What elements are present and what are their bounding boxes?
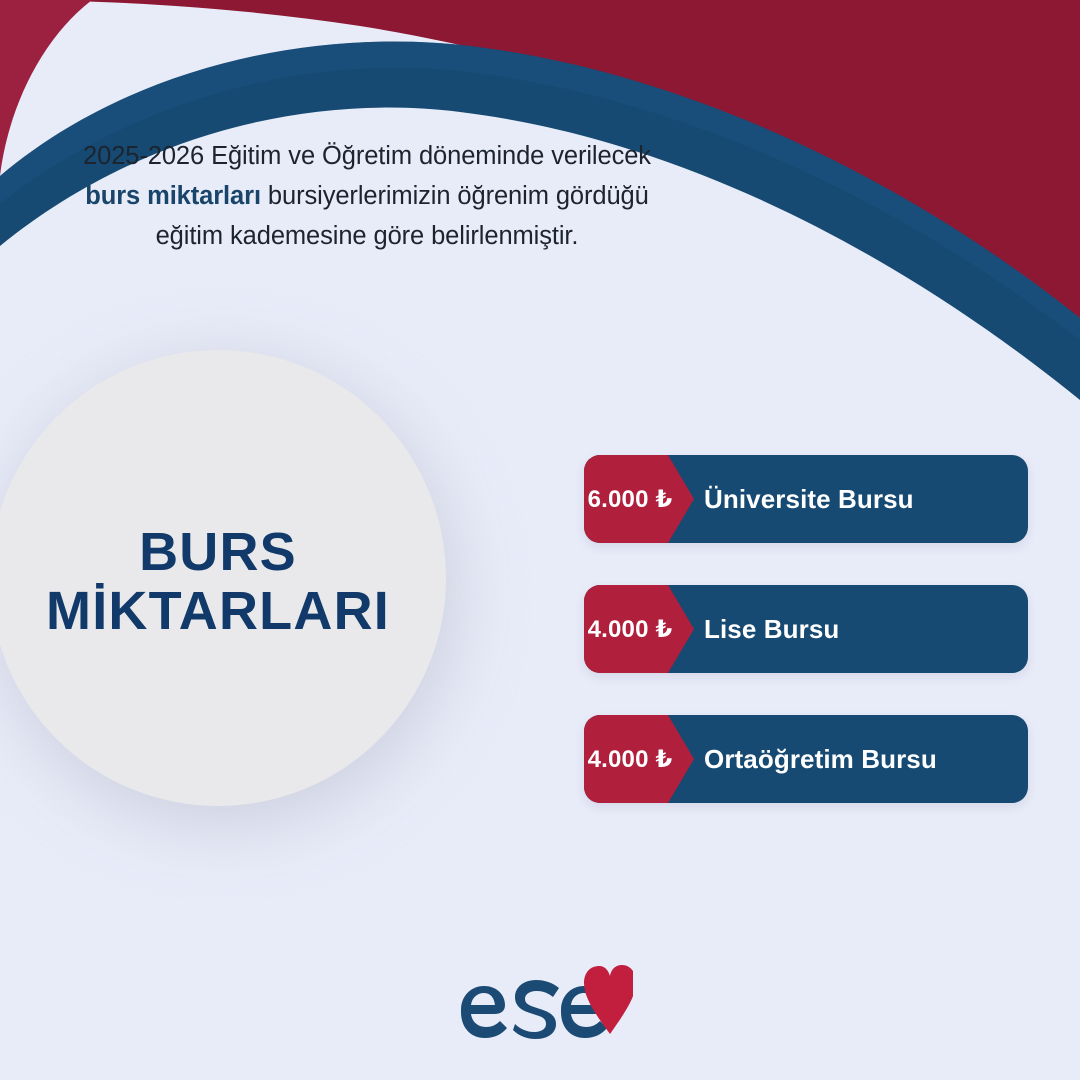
header-line-3: eğitim kademesine göre belirlenmiştir. [0, 216, 734, 256]
badge-label-text: Lise Bursu [704, 614, 839, 645]
header-line-2-rest: bursiyerlerimizin öğrenim gördüğü [261, 182, 649, 210]
scholarship-badge-secondary[interactable]: 4.000 ₺ Ortaöğretim Bursu [584, 715, 1028, 803]
header-paragraph: 2025-2026 Eğitim ve Öğretim döneminde ve… [0, 136, 734, 256]
logo-heart-v [584, 965, 633, 1034]
scholarship-badge-highschool[interactable]: 4.000 ₺ Lise Bursu [584, 585, 1028, 673]
scholarship-badge-university[interactable]: 6.000 ₺ Üniversite Bursu [584, 455, 1028, 543]
esev-logo[interactable] [0, 954, 1080, 1046]
badge-label-text: Ortaöğretim Bursu [704, 744, 937, 775]
badge-amount-value: 4.000 ₺ [584, 615, 694, 644]
badge-amount-value: 6.000 ₺ [584, 485, 694, 514]
header-line-1: 2025-2026 Eğitim ve Öğretim döneminde ve… [0, 136, 734, 176]
burs-miktarlari-circle: BURS MİKTARLARI [0, 350, 446, 806]
badge-label-text: Üniversite Bursu [704, 484, 914, 515]
header-highlight: burs miktarları [85, 182, 261, 210]
logo-letter-e1 [461, 986, 507, 1038]
logo-letter-s [513, 980, 559, 1039]
esev-logo-svg [447, 954, 633, 1046]
badge-amount-value: 4.000 ₺ [584, 745, 694, 774]
circle-disc: BURS MİKTARLARI [0, 350, 446, 806]
circle-title: BURS MİKTARLARI [46, 523, 390, 641]
poster-canvas: 2025-2026 Eğitim ve Öğretim döneminde ve… [0, 0, 1080, 1080]
header-line-2: burs miktarları bursiyerlerimizin öğreni… [0, 176, 734, 216]
scholarship-amount-list: 6.000 ₺ Üniversite Bursu 4.000 ₺ Lise Bu… [584, 455, 1028, 803]
